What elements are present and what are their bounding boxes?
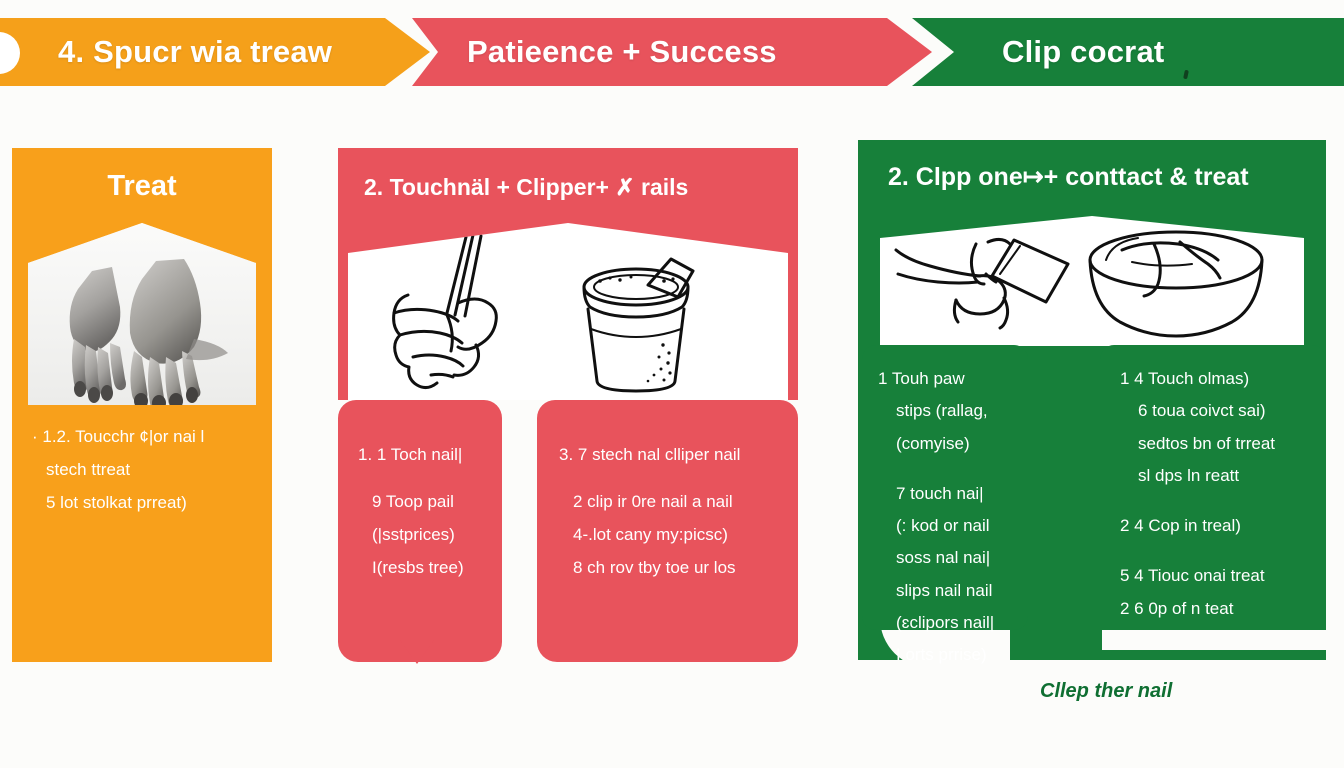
red-left-note-line: I(resbs tree): [372, 551, 464, 584]
red-left-note-line: 9 Toop pail: [372, 485, 464, 518]
green-left-bubble: 1 Touh paw stips (rallag, (comyise) 7 to…: [862, 345, 1028, 630]
banner-segment-orange-label: 4. Spucr wia treaw: [58, 34, 332, 70]
red-left-note-list: 1. 1 Toch nail| 9 Toop pail (|sstprices)…: [358, 438, 464, 585]
banner-segment-green-label: Clip cocrat: [1002, 34, 1164, 70]
red-panel-header-block: 2. Touchnäl + Clipper+ ✗ rails: [338, 148, 798, 400]
green-right-bubble-list: 1 4 Touch olmas) 6 toua coivct sai) sedt…: [1120, 363, 1275, 625]
green-left-bubble-line: (comyise): [896, 428, 994, 460]
red-left-note-line: 1. 1 Toch nail|: [358, 438, 464, 471]
green-right-bubble-line: 2 4 Cop in treal): [1120, 510, 1275, 542]
green-right-bubble-line: 5 4 Tiouc onai treat: [1120, 560, 1275, 592]
paw-with-clipper-icon: [896, 239, 1068, 328]
green-left-bubble-line: soss nal nai|: [896, 542, 994, 574]
red-left-note-line: (|sstprices): [372, 518, 464, 551]
red-right-note-line: 2 clip ir 0re nail a nail: [573, 485, 740, 518]
red-right-note-line: 8 ch rov tby toe ur los: [573, 551, 740, 584]
treat-bowl-icon: [1090, 232, 1262, 336]
green-left-bubble-line: (: kod or nail: [896, 510, 994, 542]
two-hands-photo-icon: [28, 223, 256, 405]
treat-jar-icon: [584, 259, 693, 391]
green-right-bubble: 1 4 Touch olmas) 6 toua coivct sai) sedt…: [1100, 345, 1326, 630]
orange-note-line: 5 lot stolkat prreat): [46, 486, 262, 519]
green-right-bubble-line: 6 toua coivct sai): [1138, 395, 1275, 427]
red-panel-illustration: [348, 223, 788, 400]
green-left-bubble-line: stips (rallag,: [896, 395, 994, 427]
banner-bullet-dot-icon: [0, 32, 20, 74]
banner-segment-green[interactable]: Clip cocrat: [912, 18, 1344, 86]
green-panel-illustration: [880, 216, 1304, 346]
orange-panel: Treat: [12, 148, 272, 662]
green-left-bubble-line: (ɛclipors nail|: [896, 607, 994, 639]
red-right-note-line: 3. 7 stech nal clliper nail: [559, 438, 740, 471]
hand-holding-clipper-icon: [394, 235, 497, 388]
hands-photo-illustration: [28, 223, 256, 405]
banner-segment-red[interactable]: Patieence + Success: [412, 18, 932, 86]
green-left-bubble-list: 1 Touh paw stips (rallag, (comyise) 7 to…: [878, 363, 994, 672]
banner: 4. Spucr wia treaw Patieence + Success C…: [0, 18, 1344, 86]
green-left-bubble-line: 1 Touh paw: [878, 363, 994, 395]
green-left-bubble-line: 7 touch nai|: [896, 478, 994, 510]
orange-note-line: · 1.2. Toucchr ¢|or nai l: [32, 420, 262, 453]
poster-canvas: 4. Spucr wia treaw Patieence + Success C…: [0, 0, 1344, 768]
red-right-note-list: 3. 7 stech nal clliper nail 2 clip ir 0r…: [559, 438, 740, 585]
banner-segment-orange[interactable]: 4. Spucr wia treaw: [0, 18, 430, 86]
red-right-note-line: 4-.lot cany my:picsc): [573, 518, 740, 551]
red-right-note-box: 3. 7 stech nal clliper nail 2 clip ir 0r…: [537, 400, 798, 662]
orange-panel-title: Treat: [12, 170, 272, 203]
orange-panel-notes: · 1.2. Toucchr ¢|or nai l stech ttreat 5…: [32, 420, 262, 519]
red-panel-title: 2. Touchnäl + Clipper+ ✗ rails: [364, 174, 688, 201]
green-right-bubble-line: sedtos bn of trreat: [1138, 428, 1275, 460]
orange-note-line: stech ttreat: [46, 453, 262, 486]
green-panel-caption: Cllep ther nail: [1040, 680, 1172, 703]
green-right-bubble-line: 1 4 Touch olmas): [1120, 363, 1275, 395]
green-right-bubble-line: 2 6 0p of n teat: [1120, 593, 1275, 625]
green-right-bubble-line: sl dps ln reatt: [1138, 460, 1275, 492]
green-panel-title: 2. Clpp one↦+ conttact & treat: [888, 162, 1249, 192]
banner-segment-red-label: Patieence + Success: [467, 34, 777, 70]
red-left-note-box: 1. 1 Toch nail| 9 Toop pail (|sstprices)…: [338, 400, 502, 662]
green-left-bubble-line: I orts prrise): [896, 639, 994, 671]
green-left-bubble-line: slips nail nail: [896, 575, 994, 607]
